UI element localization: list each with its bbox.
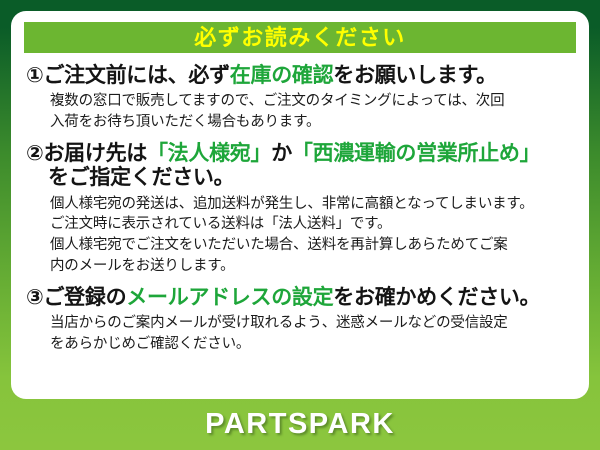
notice-item-headline-line2: をご指定ください。 [26, 166, 574, 191]
notice-item-marker: ③ [26, 286, 43, 309]
notice-item-body: 個人様宅宛の発送は、追加送料が発生し、非常に高額となってしまいます。ご注文時に表… [26, 194, 574, 276]
headline-highlight: 「法人様宛」 [147, 142, 271, 165]
banner-title: 必ずお読みください [194, 27, 406, 49]
notice-body-line: 当店からのご案内メールが受け取れるよう、迷惑メールなどの受信設定 [50, 313, 574, 334]
notice-body-line: 内のメールをお送りします。 [50, 256, 574, 277]
notice-body-line: をあらかじめご確認ください。 [50, 334, 574, 355]
headline-highlight: 在庫の確認 [230, 64, 334, 87]
notice-item-headline: ①ご注文前には、必ず在庫の確認をお願いします。 [26, 64, 574, 88]
headline-highlight: メールアドレスの設定 [126, 286, 333, 309]
headline-text: ご登録の [43, 286, 126, 309]
headline-highlight: 「西濃運輸の営業所止め」 [292, 142, 540, 165]
headline-text: ご注文前には、必ず [43, 64, 229, 87]
notice-item-marker: ① [26, 64, 43, 87]
notice-item-list: ①ご注文前には、必ず在庫の確認をお願いします。複数の窓口で販売してますので、ご注… [24, 64, 576, 354]
notice-item: ①ご注文前には、必ず在庫の確認をお願いします。複数の窓口で販売してますので、ご注… [26, 64, 574, 132]
notice-banner: 必ずお読みください [24, 22, 576, 53]
notice-item: ③ご登録のメールアドレスの設定をお確かめください。当店からのご案内メールが受け取… [26, 286, 574, 354]
notice-item-marker: ② [26, 142, 43, 165]
footer-brand-bar: PARTSPARK [0, 398, 600, 450]
notice-card: 必ずお読みください ①ご注文前には、必ず在庫の確認をお願いします。複数の窓口で販… [11, 11, 589, 399]
notice-body-line: ご注文時に表示されている送料は「法人送料」です。 [50, 214, 574, 235]
headline-text: か [271, 142, 292, 165]
headline-text: をお確かめください。 [333, 286, 540, 309]
notice-item-body: 当店からのご案内メールが受け取れるよう、迷惑メールなどの受信設定をあらかじめご確… [26, 313, 574, 354]
headline-text: お届け先は [43, 142, 147, 165]
notice-item-body: 複数の窓口で販売してますので、ご注文のタイミングによっては、次回入荷をお待ち頂い… [26, 91, 574, 132]
brand-wordmark: PARTSPARK [205, 410, 395, 439]
notice-body-line: 複数の窓口で販売してますので、ご注文のタイミングによっては、次回 [50, 91, 574, 112]
notice-item-headline: ③ご登録のメールアドレスの設定をお確かめください。 [26, 286, 574, 310]
notice-body-line: 入荷をお待ち頂いただく場合もあります。 [50, 112, 574, 133]
notice-body-line: 個人様宅宛の発送は、追加送料が発生し、非常に高額となってしまいます。 [50, 194, 574, 215]
headline-text: をお願いします。 [333, 64, 497, 87]
notice-poster: 必ずお読みください ①ご注文前には、必ず在庫の確認をお願いします。複数の窓口で販… [0, 0, 600, 450]
notice-body-line: 個人様宅宛でご注文をいただいた場合、送料を再計算しあらためてご案 [50, 235, 574, 256]
notice-item: ②お届け先は「法人様宛」か「西濃運輸の営業所止め」をご指定ください。個人様宅宛の… [26, 142, 574, 276]
notice-item-headline: ②お届け先は「法人様宛」か「西濃運輸の営業所止め」 [26, 142, 574, 166]
